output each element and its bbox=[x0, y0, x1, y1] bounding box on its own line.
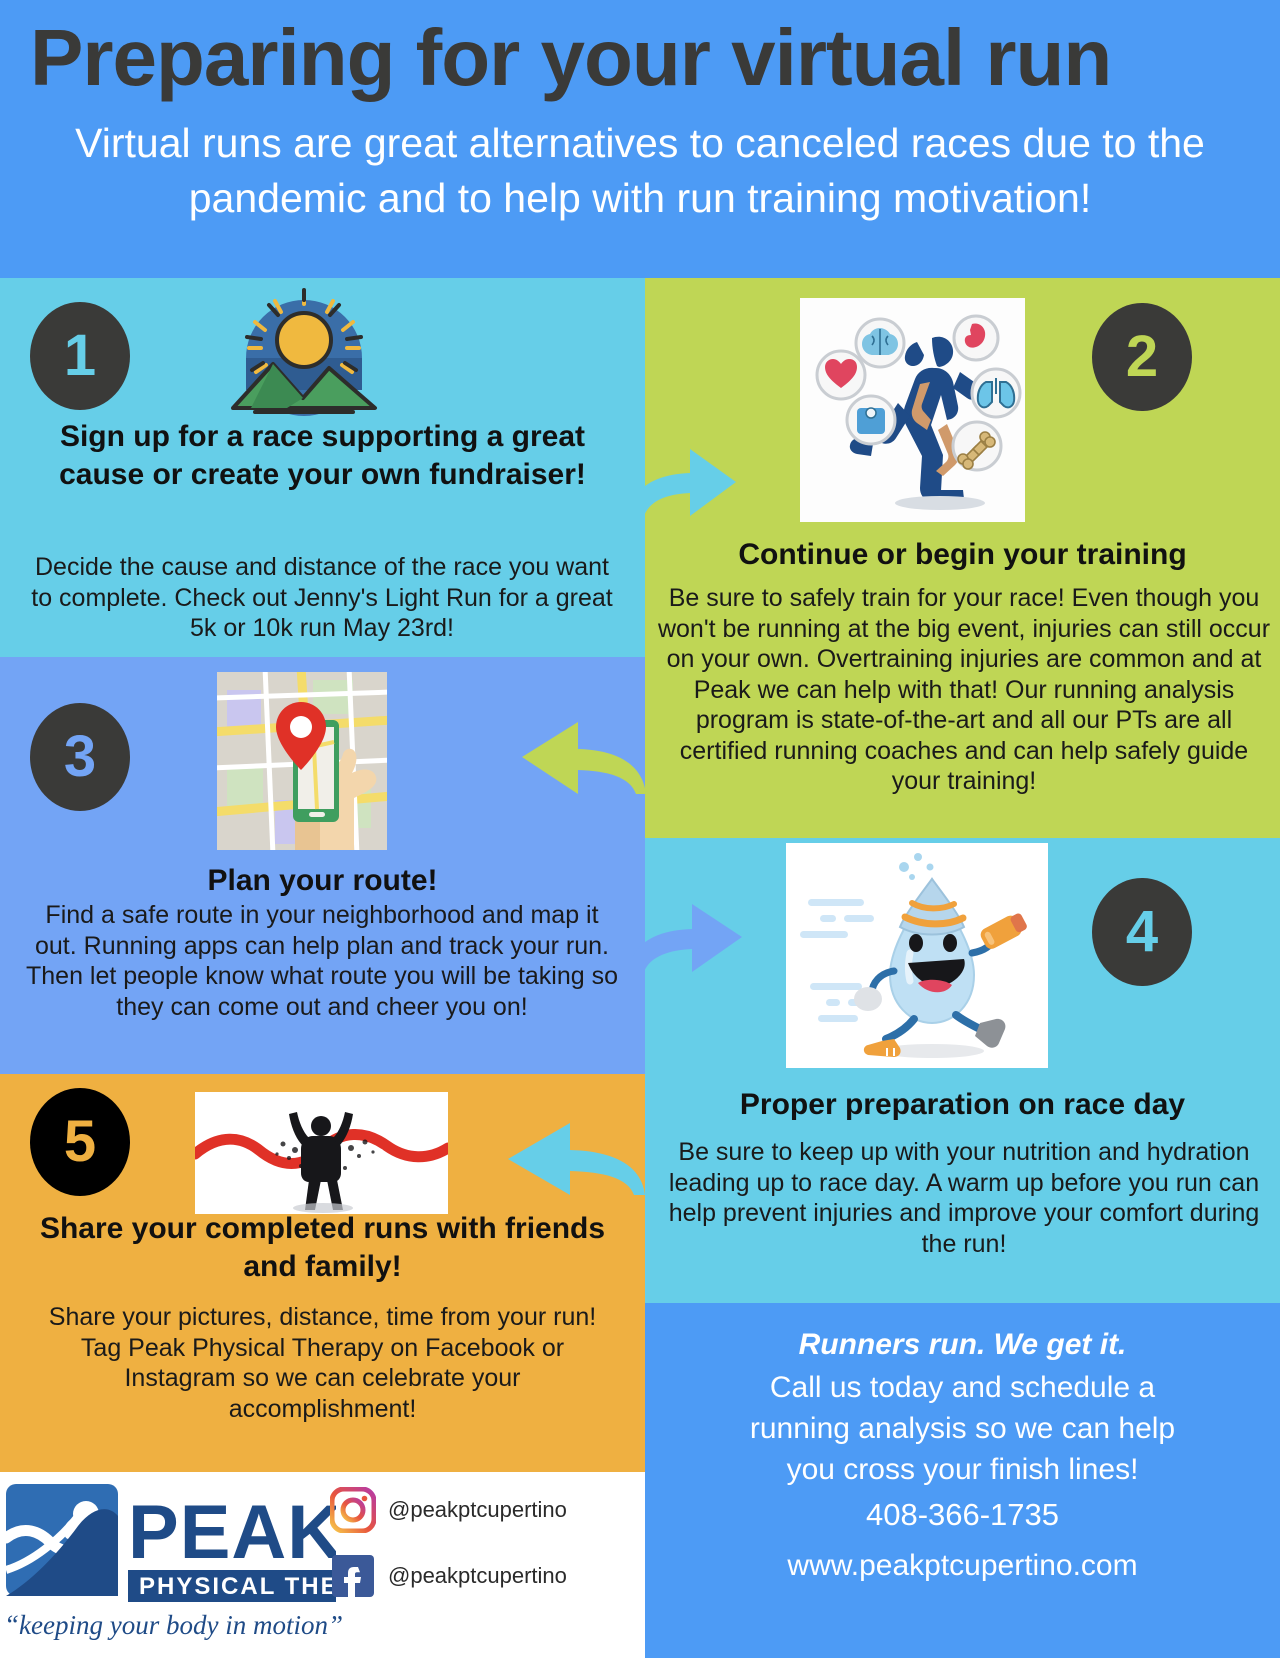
runner-health-icons-image bbox=[800, 298, 1025, 522]
arrow-step1-to-step2 bbox=[628, 424, 738, 524]
contact-tagline: Runners run. We get it. bbox=[650, 1322, 1275, 1367]
page-subtitle: Virtual runs are great alternatives to c… bbox=[30, 116, 1250, 227]
header-banner: Preparing for your virtual run Virtual r… bbox=[0, 0, 1280, 278]
logo-brand-name: PEAK bbox=[128, 1490, 336, 1575]
step-3-title: Plan your route! bbox=[20, 862, 625, 900]
finish-line-runner-image bbox=[195, 1092, 448, 1214]
step-1-number-badge: 1 bbox=[30, 302, 130, 410]
facebook-icon[interactable] bbox=[330, 1553, 376, 1599]
contact-line-3: you cross your finish lines! bbox=[650, 1449, 1275, 1490]
infographic-poster: Preparing for your virtual run Virtual r… bbox=[0, 0, 1280, 1658]
arrow-step4-to-step5 bbox=[500, 1095, 645, 1200]
step-2-number-badge: 2 bbox=[1092, 303, 1192, 411]
contact-block: Runners run. We get it. Call us today an… bbox=[650, 1322, 1275, 1592]
arrow-step3-to-step4 bbox=[628, 880, 746, 980]
step-3-number: 3 bbox=[64, 728, 96, 786]
contact-website[interactable]: www.peakptcupertino.com bbox=[650, 1540, 1275, 1593]
page-title: Preparing for your virtual run bbox=[30, 18, 1250, 98]
step-5-title: Share your completed runs with friends a… bbox=[20, 1210, 625, 1286]
contact-phone[interactable]: 408-366-1735 bbox=[650, 1490, 1275, 1540]
step-3-number-badge: 3 bbox=[30, 703, 130, 811]
instagram-handle[interactable]: @peakptcupertino bbox=[388, 1497, 567, 1523]
step-1-title: Sign up for a race supporting a great ca… bbox=[20, 418, 625, 494]
step-5-number-badge: 5 bbox=[30, 1088, 130, 1196]
step-2-number: 2 bbox=[1126, 328, 1158, 386]
step-2-title: Continue or begin your training bbox=[650, 536, 1275, 574]
water-drop-mascot-image bbox=[786, 843, 1048, 1068]
instagram-row[interactable]: @peakptcupertino bbox=[330, 1487, 567, 1533]
step-4-title: Proper preparation on race day bbox=[650, 1086, 1275, 1124]
step-1-number: 1 bbox=[64, 327, 96, 385]
logo-brand-sub: PHYSICAL THERAPY bbox=[139, 1573, 336, 1600]
step-4-body: Be sure to keep up with your nutrition a… bbox=[660, 1137, 1268, 1259]
facebook-row[interactable]: @peakptcupertino bbox=[330, 1553, 567, 1599]
step-4-number-badge: 4 bbox=[1092, 878, 1192, 986]
sunrise-mountains-icon bbox=[225, 286, 383, 416]
instagram-icon[interactable] bbox=[330, 1487, 376, 1533]
step-3-body: Find a safe route in your neighborhood a… bbox=[22, 900, 622, 1022]
hand-phone-map-image bbox=[217, 672, 387, 850]
step-5-number: 5 bbox=[64, 1113, 96, 1171]
arrow-step2-to-step3 bbox=[516, 694, 646, 799]
step-1-body: Decide the cause and distance of the rac… bbox=[22, 552, 622, 644]
facebook-handle[interactable]: @peakptcupertino bbox=[388, 1563, 567, 1589]
step-5-body: Share your pictures, distance, time from… bbox=[30, 1302, 615, 1424]
step-4-number: 4 bbox=[1126, 903, 1158, 961]
contact-line-1: Call us today and schedule a bbox=[650, 1367, 1275, 1408]
logo-tagline: “keeping your body in motion” bbox=[4, 1610, 324, 1641]
contact-line-2: running analysis so we can help bbox=[650, 1408, 1275, 1449]
step-2-body: Be sure to safely train for your race! E… bbox=[655, 583, 1273, 797]
